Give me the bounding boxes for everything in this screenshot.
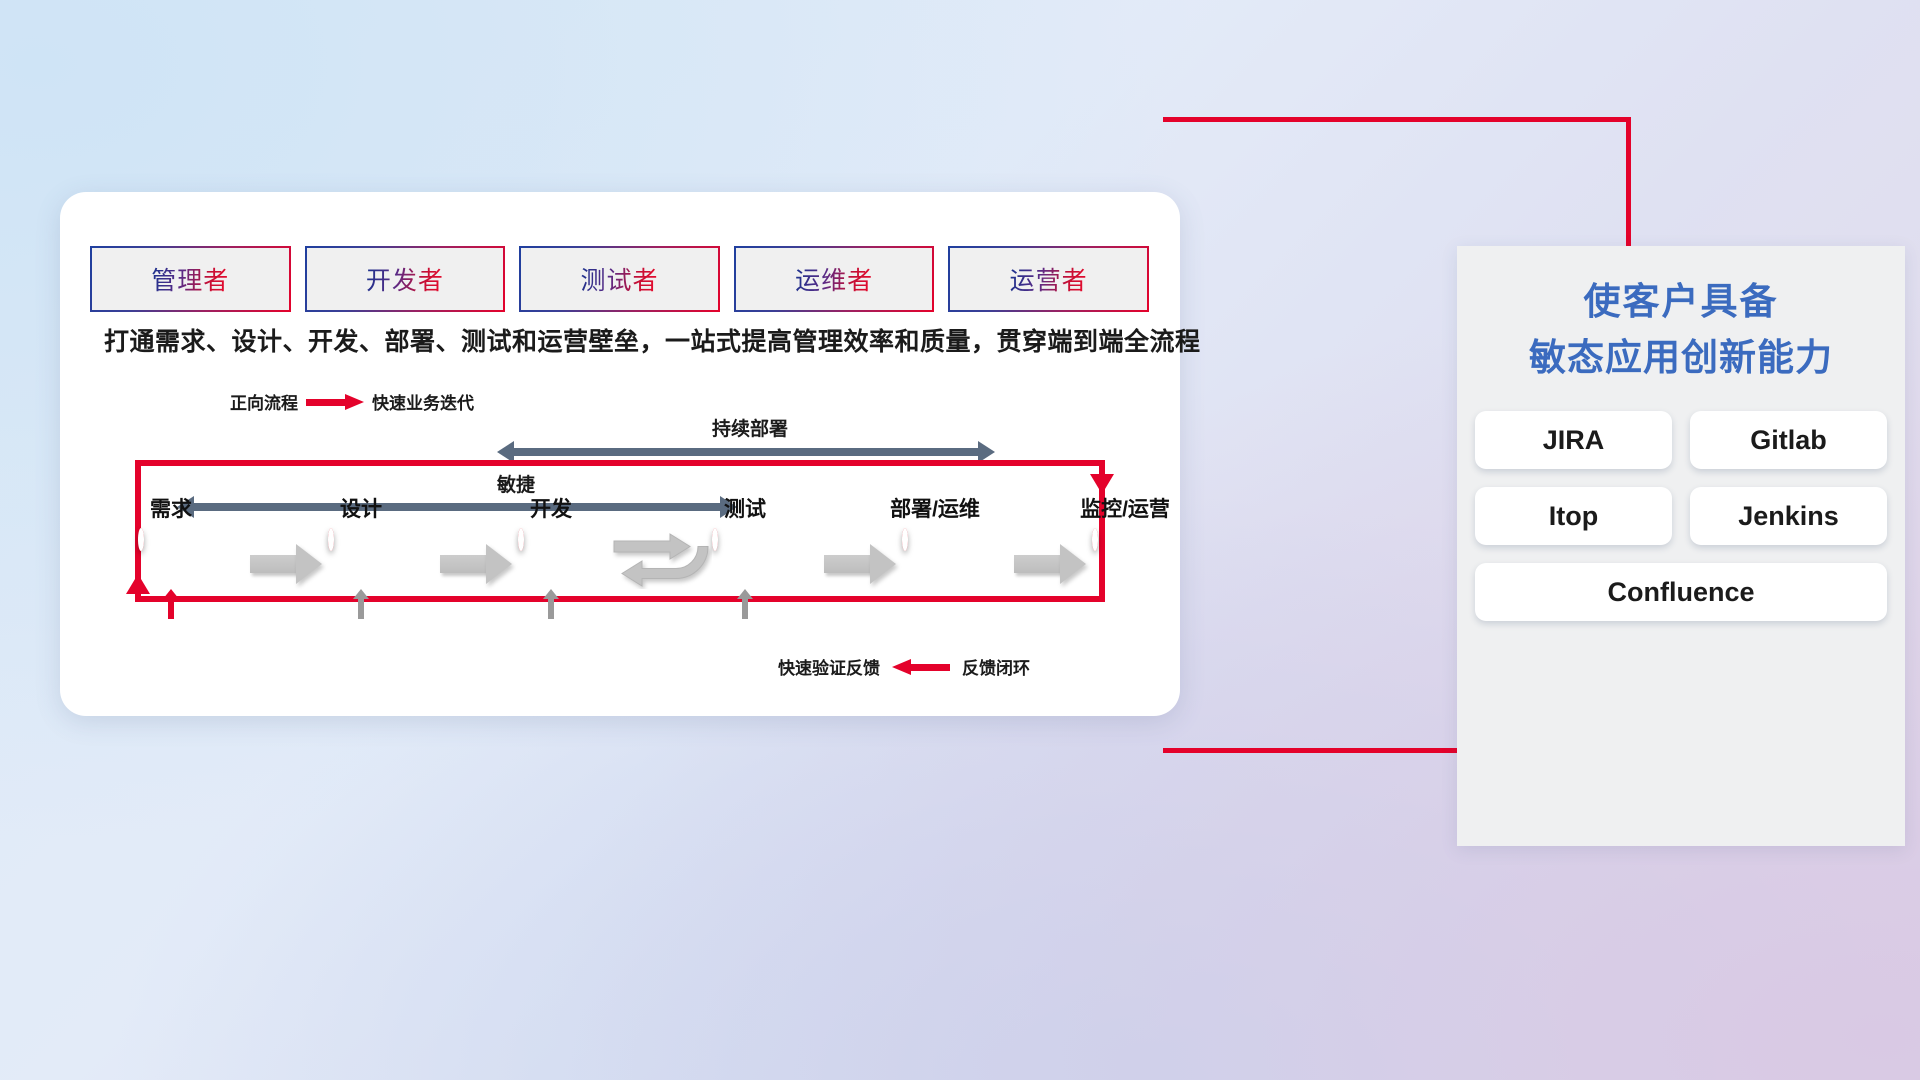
arrow-tip	[296, 544, 322, 584]
role-box-developer[interactable]: 开发者	[307, 248, 504, 310]
tool-tag-confluence[interactable]: Confluence	[1475, 563, 1887, 621]
node-stem-icon	[168, 597, 174, 619]
role-label: 开发者	[366, 261, 444, 297]
node-dot-icon	[712, 528, 718, 551]
arrow-left-red-icon	[892, 659, 950, 675]
iteration-loop-arrow-icon	[612, 527, 712, 589]
node-dot-icon	[1092, 528, 1098, 551]
legend-feedback-loop: 快速验证反馈 反馈闭环	[778, 654, 1030, 679]
node-dot-icon	[138, 528, 144, 551]
legend-forward-flow: 正向流程 快速业务迭代	[230, 389, 474, 414]
legend-forward-right-label: 快速业务迭代	[372, 389, 474, 414]
role-label: 测试者	[580, 261, 658, 297]
legend-feedback-right-label: 反馈闭环	[962, 654, 1030, 679]
arrow-right-red-icon	[306, 394, 364, 410]
arrow-tip	[1060, 544, 1086, 584]
node-stem-icon	[548, 597, 554, 619]
arrow-shaft	[512, 448, 980, 456]
pipeline-node-label: 部署/运维	[890, 493, 980, 523]
node-stem-icon	[358, 597, 364, 619]
arrow-body	[824, 555, 872, 573]
pipeline-node-monitor-operations[interactable]: 监控/运营	[1092, 531, 1158, 597]
tool-tag-list: JIRA Gitlab Itop Jenkins Confluence	[1475, 411, 1887, 621]
tools-panel: 使客户具备 敏态应用创新能力 JIRA Gitlab Itop Jenkins …	[1457, 246, 1905, 846]
arrow-body	[1014, 555, 1062, 573]
arrow-tip	[870, 544, 896, 584]
flow-arrow-icon	[250, 544, 322, 584]
pipeline-node-label: 需求	[150, 493, 192, 523]
role-label: 管理者	[151, 261, 229, 297]
role-box-manager[interactable]: 管理者	[92, 248, 289, 310]
pipeline-node-test[interactable]: 测试	[712, 531, 778, 597]
role-label: 运营者	[1010, 261, 1088, 297]
flow-arrow-icon	[440, 544, 512, 584]
tool-tag-gitlab[interactable]: Gitlab	[1690, 411, 1887, 469]
role-box-ops[interactable]: 运维者	[736, 248, 933, 310]
panel-title: 使客户具备 敏态应用创新能力	[1457, 274, 1905, 385]
pipeline: 需求 设计 开发	[100, 487, 1140, 597]
node-dot-icon	[902, 528, 908, 551]
panel-title-line-1: 使客户具备	[1457, 274, 1905, 330]
pipeline-node-label: 测试	[724, 493, 766, 523]
arrow-body	[440, 555, 488, 573]
pipeline-node-requirement[interactable]: 需求	[138, 531, 204, 597]
role-box-operations[interactable]: 运营者	[950, 248, 1147, 310]
node-dot-icon	[518, 528, 524, 551]
arrow-body	[250, 555, 298, 573]
main-card: 管理者 开发者 测试者 运维者 运营者 打通需求、设计、开发、部署、测试和运营壁…	[60, 192, 1180, 716]
flow-arrow-icon	[824, 544, 896, 584]
pipeline-node-label: 监控/运营	[1080, 493, 1170, 523]
tool-tag-itop[interactable]: Itop	[1475, 487, 1672, 545]
pipeline-node-design[interactable]: 设计	[328, 531, 394, 597]
panel-title-line-2: 敏态应用创新能力	[1457, 330, 1905, 386]
node-stem-icon	[742, 597, 748, 619]
loop-path-top	[135, 460, 1105, 466]
pipeline-node-label: 设计	[340, 493, 382, 523]
role-box-row: 管理者 开发者 测试者 运维者 运营者	[92, 248, 1147, 310]
flow-arrow-icon	[1014, 544, 1086, 584]
pipeline-node-develop[interactable]: 开发	[518, 531, 584, 597]
node-dot-icon	[328, 528, 334, 551]
tool-tag-jenkins[interactable]: Jenkins	[1690, 487, 1887, 545]
arrow-tip	[486, 544, 512, 584]
role-box-tester[interactable]: 测试者	[521, 248, 718, 310]
pipeline-node-deploy-ops[interactable]: 部署/运维	[902, 531, 968, 597]
legend-feedback-left-label: 快速验证反馈	[778, 654, 880, 679]
headline-text: 打通需求、设计、开发、部署、测试和运营壁垒，一站式提高管理效率和质量，贯穿端到端…	[104, 322, 1144, 358]
pipeline-node-label: 开发	[530, 493, 572, 523]
span-label-continuous-deploy: 持续部署	[712, 414, 788, 441]
legend-forward-left-label: 正向流程	[230, 389, 298, 414]
tool-tag-jira[interactable]: JIRA	[1475, 411, 1672, 469]
role-label: 运维者	[795, 261, 873, 297]
